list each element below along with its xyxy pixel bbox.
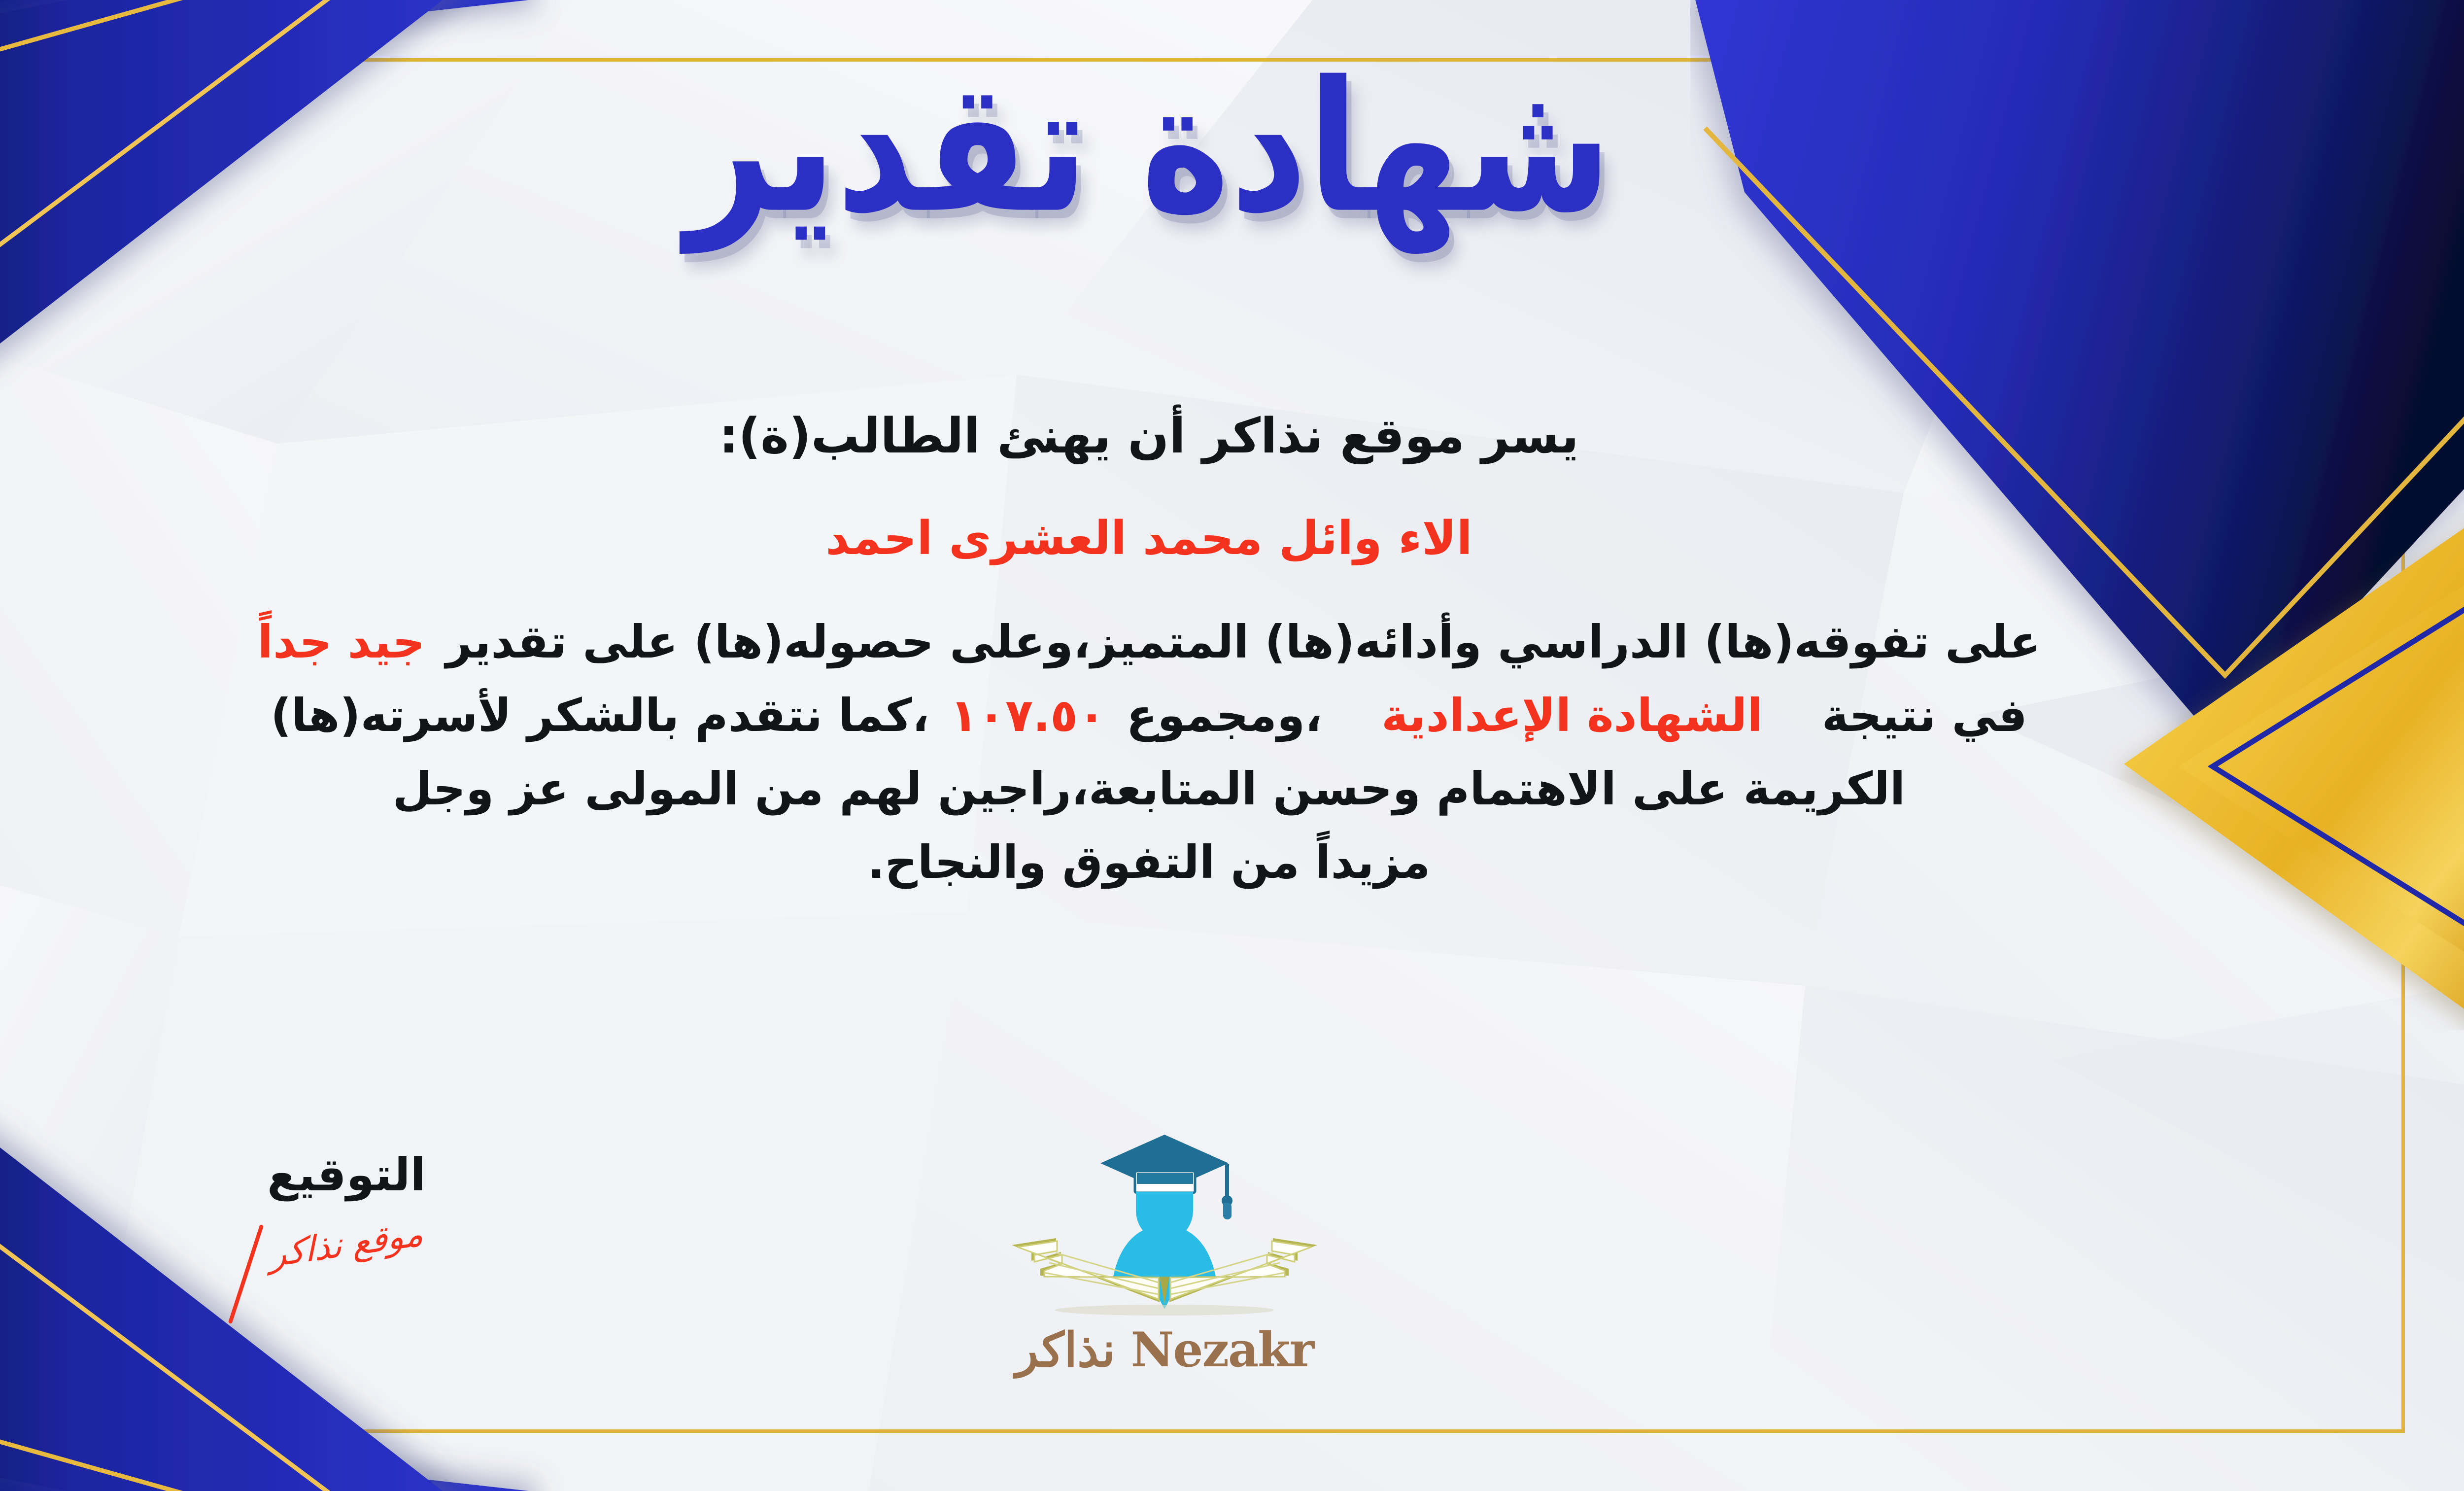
body-p2-text-a: في نتيجة bbox=[1822, 689, 2027, 742]
exam-name: الشهادة الإعدادية bbox=[1381, 689, 1763, 742]
grade-value: جيد جداً bbox=[257, 616, 425, 668]
certificate-body: يسر موقع نذاكر أن يهنئ الطالب(ة): الاء و… bbox=[0, 399, 2336, 899]
signature-label: التوقيع bbox=[218, 1148, 475, 1201]
body-p2-text-b: ،ومجموع bbox=[1126, 689, 1322, 742]
signature-mark: موقع نذاكر bbox=[219, 1206, 474, 1283]
body-p3-text: الكريمة على الاهتمام وحسن المتابعة،راجين… bbox=[393, 763, 1906, 815]
body-p2-text-c: ،كما نتقدم بالشكر لأسرته(ها) bbox=[271, 689, 929, 742]
certificate-title-wrap: شهادة تقدير bbox=[0, 59, 2464, 237]
brand-wordmark: Nezakr نذاكر bbox=[977, 1322, 1352, 1378]
graduate-book-logo-icon bbox=[982, 1129, 1347, 1326]
intro-line: يسر موقع نذاكر أن يهنئ الطالب(ة): bbox=[0, 399, 2336, 474]
brand-logo-block: Nezakr نذاكر bbox=[977, 1129, 1352, 1378]
body-p4-text: مزيداً من التفوق والنجاح. bbox=[868, 836, 1431, 889]
total-score: ١٠٧.٥٠ bbox=[950, 689, 1106, 742]
page-title: شهادة تقدير bbox=[686, 58, 1612, 238]
body-p1-text: على تفوقه(ها) الدراسي وأدائه(ها) المتميز… bbox=[445, 616, 2040, 668]
recipient-name: الاء وائل محمد العشرى احمد bbox=[0, 503, 2336, 575]
signature-block: التوقيع موقع نذاكر bbox=[218, 1148, 475, 1264]
certificate-canvas: شهادة تقدير يسر موقع نذاكر أن يهنئ الطال… bbox=[0, 0, 2464, 1491]
body-paragraph: على تفوقه(ها) الدراسي وأدائه(ها) المتميز… bbox=[0, 605, 2336, 899]
